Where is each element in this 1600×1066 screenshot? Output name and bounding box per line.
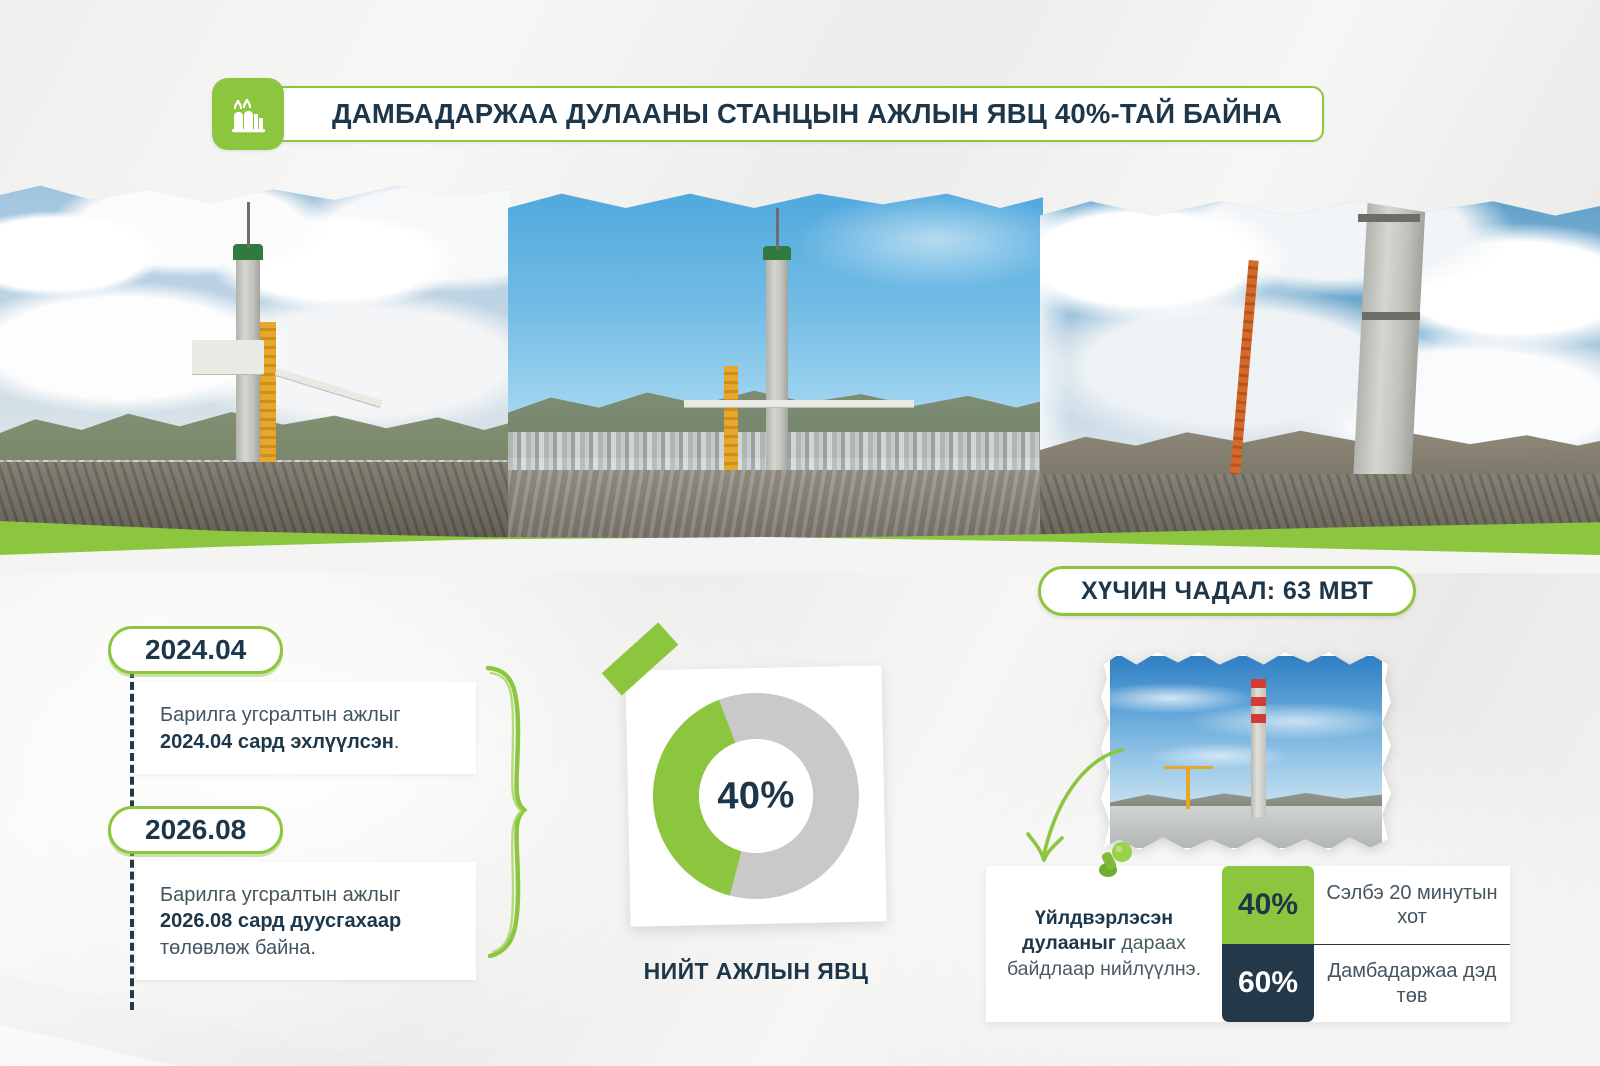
distribution-label-2: Дамбадаржаа дэд төв: [1314, 944, 1510, 1022]
timeline-text-2-suffix: төлөвлөж байна.: [160, 937, 316, 959]
timeline: 2024.04 Барилга угсралтын ажлыг 2024.04 …: [108, 626, 488, 980]
finished-plant-photo: [1098, 648, 1394, 856]
timeline-card-1: Барилга угсралтын ажлыг 2024.04 сард эхл…: [136, 682, 476, 774]
capacity-label: ХҮЧИН ЧАДАЛ: 63 МВТ: [1081, 577, 1373, 606]
green-pushpin-icon: [1092, 838, 1136, 887]
heat-distribution-panel: Үйлдвэрлэсэн дулааныг дараах байдлаар ни…: [986, 866, 1510, 1022]
timeline-text-2-bold: 2026.08 сард дуусгахаар: [160, 910, 401, 932]
header-title-bar: ДАМБАДАРЖАА ДУЛААНЫ СТАНЦЫН АЖЛЫН ЯВЦ 40…: [272, 86, 1324, 142]
curly-brace: [478, 660, 548, 965]
timeline-card-2: Барилга угсралтын ажлыг 2026.08 сард дуу…: [136, 862, 476, 980]
distribution-row-selbe: 40% Сэлбэ 20 минутын хот: [1222, 866, 1510, 944]
distribution-rows: 40% Сэлбэ 20 минутын хот 60% Дамбадаржаа…: [1222, 866, 1510, 1022]
donut-center-value: 40%: [717, 774, 795, 819]
timeline-date-chip-2: 2026.08: [108, 806, 283, 854]
header: ДАМБАДАРЖАА ДУЛААНЫ СТАНЦЫН АЖЛЫН ЯВЦ 40…: [212, 78, 1324, 150]
distribution-row-dambadarjaa: 60% Дамбадаржаа дэд төв: [1222, 944, 1510, 1022]
distribution-percent-1: 40%: [1222, 866, 1314, 944]
construction-photo-cloudy: [0, 182, 510, 542]
timeline-text-1-bold: 2024.04 сард эхлүүлсэн: [160, 731, 394, 753]
timeline-date-2: 2026.08: [145, 814, 246, 846]
power-plant-icon: [212, 78, 284, 150]
distribution-label-1: Сэлбэ 20 минутын хот: [1314, 866, 1510, 944]
donut-card: 40%: [625, 665, 886, 926]
construction-photo-clear: [508, 190, 1043, 550]
timeline-date-1: 2024.04: [145, 634, 246, 666]
page-title: ДАМБАДАРЖАА ДУЛААНЫ СТАНЦЫН АЖЛЫН ЯВЦ 40…: [332, 98, 1282, 130]
timeline-date-chip-1: 2024.04: [108, 626, 283, 674]
construction-photo-closeup: [1040, 194, 1600, 554]
capacity-badge: ХҮЧИН ЧАДАЛ: 63 МВТ: [1038, 566, 1416, 616]
overall-progress-chart: 40% НИЙТ АЖЛЫН ЯВЦ: [628, 668, 884, 924]
donut-caption: НИЙТ АЖЛЫН ЯВЦ: [628, 958, 884, 985]
timeline-text-1-suffix: .: [394, 731, 400, 753]
timeline-text-1-prefix: Барилга угсралтын ажлыг: [160, 704, 401, 726]
timeline-text-2-prefix: Барилга угсралтын ажлыг: [160, 884, 401, 906]
distribution-note: Үйлдвэрлэсэн дулааныг дараах байдлаар ни…: [986, 866, 1222, 1022]
photo-strip: [0, 168, 1600, 558]
distribution-percent-2: 60%: [1222, 944, 1314, 1022]
